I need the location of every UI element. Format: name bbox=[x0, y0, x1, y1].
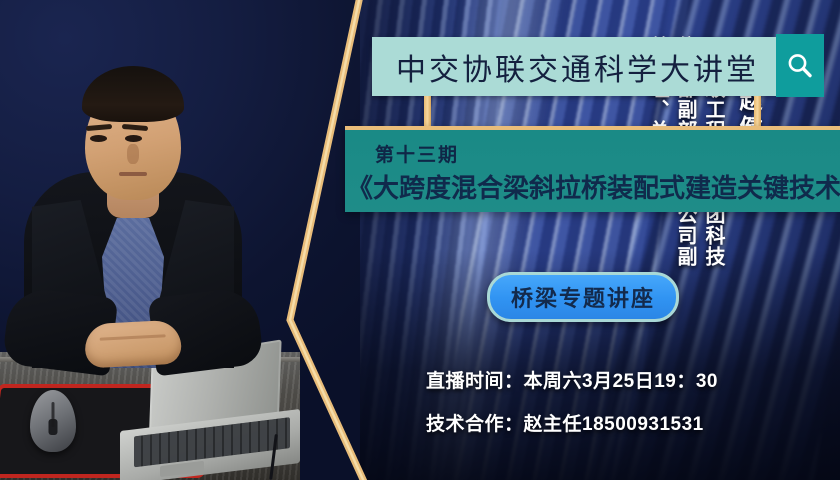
topic-title: 《大跨度混合梁斜拉桥装配式建造关键技术》 bbox=[347, 168, 840, 205]
sign-post-left bbox=[424, 96, 431, 126]
live-time-text: 直播时间：本周六3月25日19：30 bbox=[426, 366, 718, 393]
webinar-poster: 总经理、总工程师 信息部副部长兼四公司副 正高级工程师、集团科技 赵健 中交协联… bbox=[0, 0, 840, 480]
eye-right bbox=[125, 135, 142, 142]
category-pill[interactable]: 桥梁专题讲座 bbox=[487, 272, 679, 322]
search-button[interactable] bbox=[776, 34, 824, 97]
topic-banner: 第十三期 《大跨度混合梁斜拉桥装配式建造关键技术》 bbox=[345, 126, 840, 212]
mouth bbox=[119, 172, 147, 176]
eye-left bbox=[90, 135, 107, 142]
nose bbox=[127, 144, 139, 164]
speaker-panel bbox=[0, 0, 360, 480]
sign-post-right bbox=[754, 96, 761, 126]
page-title: 中交协联交通科学大讲堂 bbox=[372, 45, 759, 89]
hair bbox=[82, 66, 184, 122]
contact-text: 技术合作：赵主任18500931531 bbox=[426, 409, 704, 436]
mouse-button bbox=[49, 419, 58, 435]
header-sign: 中交协联交通科学大讲堂 bbox=[372, 37, 776, 96]
clasped-hands bbox=[84, 320, 182, 369]
category-pill-label: 桥梁专题讲座 bbox=[511, 281, 655, 313]
search-icon bbox=[785, 51, 815, 81]
issue-number: 第十三期 bbox=[375, 140, 459, 167]
speaker-photo bbox=[18, 50, 248, 368]
